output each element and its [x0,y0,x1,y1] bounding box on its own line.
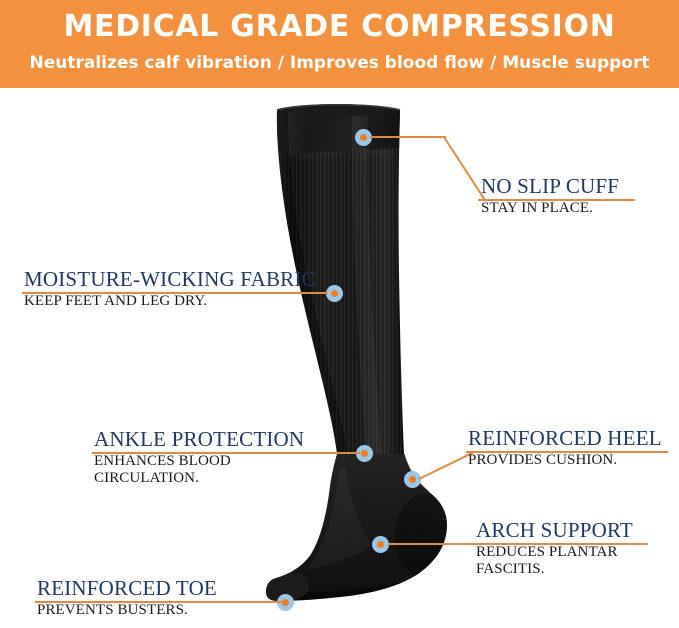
callout-subtitle: PROVIDES CUSHION. [468,452,662,469]
page-title: MEDICAL GRADE COMPRESSION [0,9,679,45]
callout-subtitle-line1: PREVENTS BUSTERS. [37,602,188,618]
callout-subtitle: KEEP FEET AND LEG DRY. [24,293,316,310]
callout-subtitle-line1: KEEP FEET AND LEG DRY. [24,293,207,309]
callout-subtitle-line1: ENHANCES BLOOD [94,453,231,469]
connector-no-slip-cuff-horizontal [370,136,446,138]
callout-title: REINFORCED HEEL [468,427,662,450]
callout-subtitle-line2: CIRCULATION. [94,470,304,487]
callout-subtitle-line1: STAY IN PLACE. [481,200,593,216]
callout-subtitle: ENHANCES BLOOD CIRCULATION. [94,453,304,487]
callout-title: ARCH SUPPORT [476,519,633,542]
callout-subtitle: STAY IN PLACE. [481,200,619,217]
callout-reinforced-toe: REINFORCED TOE PREVENTS BUSTERS. [37,577,217,619]
header-banner: MEDICAL GRADE COMPRESSION Neutralizes ca… [0,0,679,88]
callout-subtitle-line1: REDUCES PLANTAR [476,544,618,560]
callout-arch-support: ARCH SUPPORT REDUCES PLANTAR FASCITIS. [476,519,633,578]
callout-subtitle: PREVENTS BUSTERS. [37,602,217,619]
callout-title: MOISTURE-WICKING FABRIC [24,268,316,291]
callout-title: NO SLIP CUFF [481,175,619,198]
callout-subtitle-line1: PROVIDES CUSHION. [468,452,617,468]
page-subtitle: Neutralizes calf vibration / Improves bl… [0,52,679,74]
marker-dot-moisture-wicking-fabric[interactable] [326,285,343,302]
callout-reinforced-heel: REINFORCED HEEL PROVIDES CUSHION. [468,427,662,469]
callout-subtitle: REDUCES PLANTAR FASCITIS. [476,544,633,578]
callout-subtitle-line2: FASCITIS. [476,561,633,578]
callout-no-slip-cuff: NO SLIP CUFF STAY IN PLACE. [481,175,619,217]
callout-moisture-wicking-fabric: MOISTURE-WICKING FABRIC KEEP FEET AND LE… [24,268,316,310]
callout-ankle-protection: ANKLE PROTECTION ENHANCES BLOOD CIRCULAT… [94,428,304,487]
marker-dot-arch-support[interactable] [372,536,389,553]
callout-title: ANKLE PROTECTION [94,428,304,451]
callout-title: REINFORCED TOE [37,577,217,600]
infographic-page: MEDICAL GRADE COMPRESSION Neutralizes ca… [0,0,679,628]
